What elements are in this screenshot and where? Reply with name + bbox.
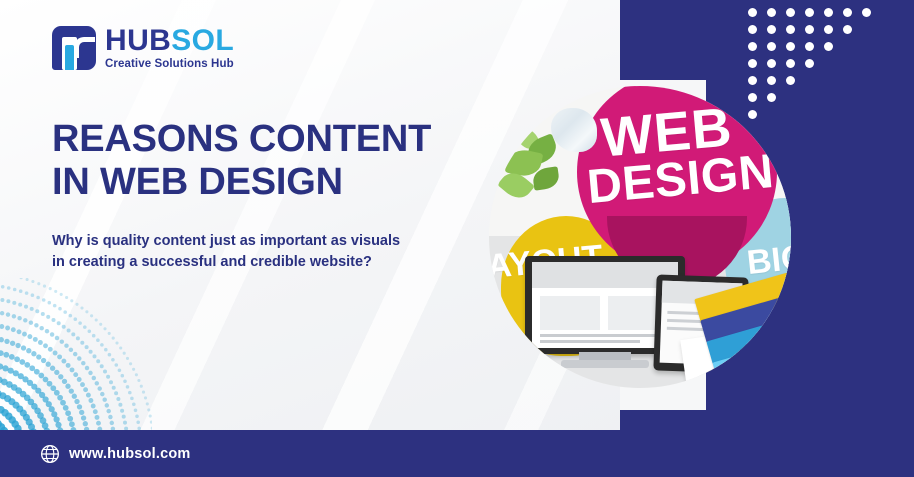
logo-wordmark: HUBSOL <box>105 26 234 56</box>
pattern-dot <box>824 8 833 17</box>
logo-word-sol: SOL <box>171 24 234 57</box>
monitor-column <box>540 296 600 330</box>
pattern-dot <box>748 8 757 17</box>
subtitle: Why is quality content just as important… <box>52 231 497 273</box>
pattern-dot <box>824 25 833 34</box>
logo-text-block: HUBSOL Creative Solutions Hub <box>105 26 234 71</box>
monitor-text-line <box>540 340 640 343</box>
pattern-dot <box>786 76 795 85</box>
pattern-dot <box>767 42 776 51</box>
hubsol-h-monogram-icon <box>52 26 96 70</box>
monitor-base <box>561 360 649 368</box>
banner-root: HUBSOL Creative Solutions Hub REASONS CO… <box>0 0 914 477</box>
pattern-dot <box>786 59 795 68</box>
globe-icon <box>40 444 60 464</box>
pattern-dot <box>805 8 814 17</box>
pattern-dot <box>767 8 776 17</box>
pattern-dot <box>748 76 757 85</box>
pattern-dot <box>805 25 814 34</box>
pattern-dot <box>862 8 871 17</box>
pattern-dot <box>786 8 795 17</box>
pattern-dot <box>767 76 776 85</box>
subtitle-line-1: Why is quality content just as important… <box>52 231 497 252</box>
card-label-01: 01 <box>784 299 791 311</box>
pattern-dot <box>786 42 795 51</box>
card-label-03: 03 <box>789 343 791 355</box>
logo-word-hub: HUB <box>105 24 171 57</box>
pattern-dot <box>843 25 852 34</box>
pattern-dot <box>805 59 814 68</box>
footer-bar: www.hubsol.com <box>0 430 914 477</box>
pattern-dot <box>767 59 776 68</box>
pattern-dot <box>748 25 757 34</box>
pattern-dot <box>824 42 833 51</box>
brand-logo[interactable]: HUBSOL Creative Solutions Hub <box>52 26 234 71</box>
page-title: REASONS CONTENT IN WEB DESIGN <box>52 118 522 203</box>
subtitle-line-2: in creating a successful and credible we… <box>52 252 497 273</box>
monitor-text-line <box>540 334 668 337</box>
pattern-dot <box>748 59 757 68</box>
pattern-dot <box>843 8 852 17</box>
circular-collage-image: AYOUT BIG WEB DESIGN <box>489 86 791 388</box>
website-url: www.hubsol.com <box>69 446 191 462</box>
pattern-dot <box>805 42 814 51</box>
logo-tagline: Creative Solutions Hub <box>105 59 234 71</box>
headline-line-2: IN WEB DESIGN <box>52 161 522 204</box>
footer-website-link[interactable]: www.hubsol.com <box>40 430 191 477</box>
pattern-dot <box>786 25 795 34</box>
pattern-dot <box>767 25 776 34</box>
card-label-02: 02 <box>787 321 791 333</box>
monogram-arch <box>74 37 95 58</box>
pattern-dot <box>748 42 757 51</box>
headline-line-1: REASONS CONTENT <box>52 118 522 161</box>
